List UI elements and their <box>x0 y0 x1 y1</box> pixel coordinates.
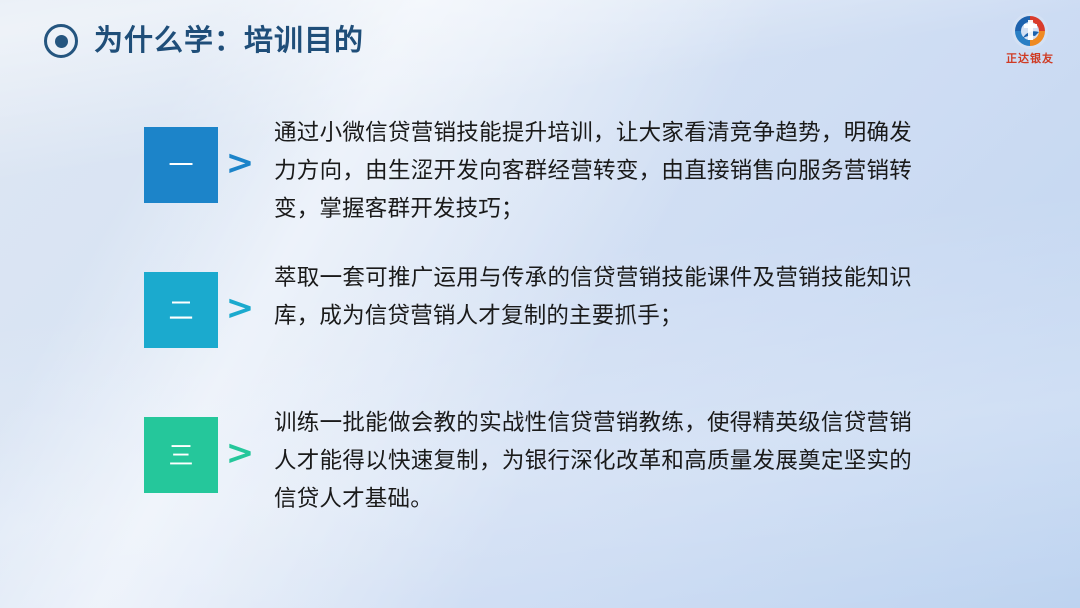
item-body-text: 萃取一套可推广运用与传承的信贷营销技能课件及营销技能知识库，成为信贷营销人才复制… <box>274 259 912 335</box>
company-logo: 正达银友 <box>994 10 1066 65</box>
chevron-right-icon: > <box>218 291 262 325</box>
page-title: 为什么学：培训目的 <box>94 27 364 56</box>
item-number-label: 三 <box>168 443 193 468</box>
chevron-glyph: > <box>226 436 255 470</box>
item-number-label: 二 <box>168 298 193 323</box>
company-name: 正达银友 <box>1006 54 1054 65</box>
item-number-badge: 一 <box>144 127 218 203</box>
item-body-text: 训练一批能做会教的实战性信贷营销教练，使得精英级信贷营销人才能得以快速复制，为银… <box>274 404 912 518</box>
item-number-badge: 二 <box>144 272 218 348</box>
circle-dot-icon <box>44 24 78 58</box>
slide-canvas: 为什么学：培训目的 正达银友 一 > 通过小微信 <box>0 0 1080 608</box>
item-number-badge: 三 <box>144 417 218 493</box>
list-item: 二 > 萃取一套可推广运用与传承的信贷营销技能课件及营销技能知识库，成为信贷营销… <box>0 253 1080 348</box>
item-body-text: 通过小微信贷营销技能提升培训，让大家看清竞争趋势，明确发力方向，由生涩开发向客群… <box>274 114 912 228</box>
company-emblem-icon <box>1009 10 1051 52</box>
item-number-label: 一 <box>168 153 193 178</box>
slide-header: 为什么学：培训目的 <box>44 24 364 58</box>
chevron-right-icon: > <box>218 436 262 470</box>
list-item: 一 > 通过小微信贷营销技能提升培训，让大家看清竞争趋势，明确发力方向，由生涩开… <box>0 108 1080 228</box>
chevron-glyph: > <box>226 146 255 180</box>
list-item: 三 > 训练一批能做会教的实战性信贷营销教练，使得精英级信贷营销人才能得以快速复… <box>0 398 1080 518</box>
chevron-glyph: > <box>226 291 255 325</box>
circle-dot-inner <box>55 35 68 48</box>
chevron-right-icon: > <box>218 146 262 180</box>
